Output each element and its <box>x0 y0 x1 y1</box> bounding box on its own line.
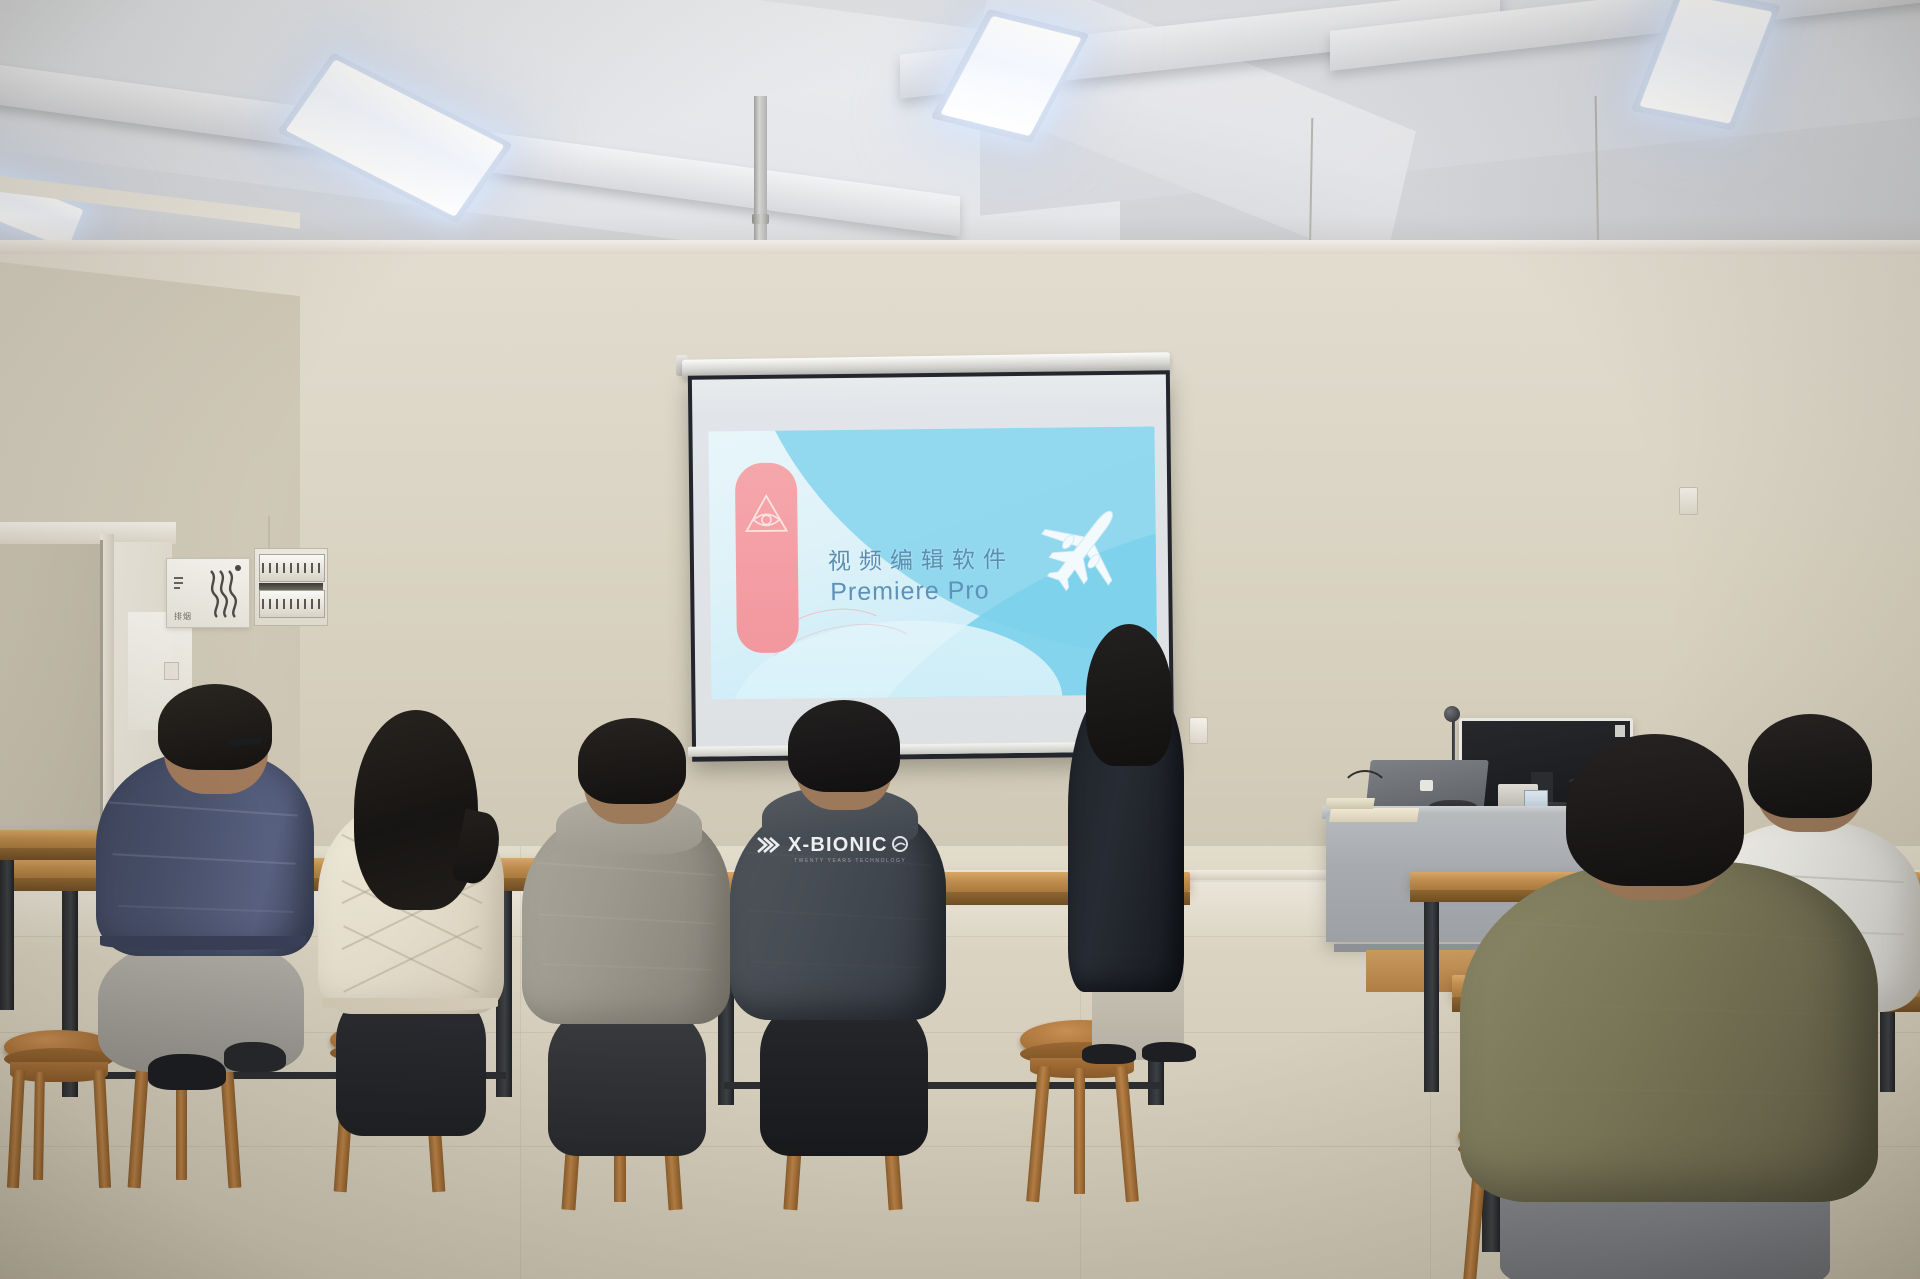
student-4-brand-text: X-BIONIC <box>788 834 888 857</box>
student-4-hair <box>788 700 900 792</box>
student-6-jacket <box>1460 862 1878 1202</box>
student-1-hair <box>158 684 272 770</box>
classroom-photo: 排烟 <box>0 0 1920 1279</box>
wall-socket[interactable] <box>164 662 179 680</box>
student-5-hair <box>1748 714 1872 818</box>
projector-pole-joint <box>752 214 769 224</box>
instructor-hair <box>1086 624 1172 766</box>
wall-top-trim <box>0 240 1920 254</box>
panel-divider <box>259 583 323 590</box>
wall-light-switch[interactable] <box>1189 717 1208 744</box>
slide-title-cn: 视频编辑软件 <box>828 540 1014 576</box>
desk-papers-2 <box>1325 798 1375 809</box>
student-1-shoe-2 <box>224 1042 286 1072</box>
smoke-wave-icon <box>205 567 241 619</box>
student-2-jacket-hem <box>322 998 498 1011</box>
instructor-shoe-right <box>1142 1042 1196 1062</box>
electrical-panel <box>254 548 328 626</box>
panel-breaker-row-2 <box>259 590 325 618</box>
x-bionic-logo-icon <box>756 836 786 854</box>
doorway-header <box>0 522 176 544</box>
student-1-jacket-hem <box>100 936 306 950</box>
bionic-circle-icon <box>892 836 908 852</box>
monitor-badge <box>1615 725 1625 737</box>
sign-label: 排烟 <box>174 611 192 622</box>
student-6-hair <box>1566 734 1744 886</box>
desk-papers <box>1329 808 1419 822</box>
laptop-logo <box>1420 780 1433 791</box>
slide-subtitle-en: Premiere Pro <box>830 576 990 607</box>
student-1-shoe <box>148 1054 226 1090</box>
panel-cord <box>268 516 270 550</box>
student-3-hair <box>578 718 686 804</box>
microphone-icon <box>1444 706 1460 722</box>
student-3-pants <box>548 1004 706 1156</box>
panel-breaker-row-1 <box>259 554 325 582</box>
slide-presentation: 视频编辑软件 Premiere Pro <box>708 426 1157 699</box>
sign-glyph-icon <box>174 575 183 595</box>
student-4-brand-subtext: TWENTY YEARS TECHNOLOGY <box>794 858 906 864</box>
eye-in-triangle-icon <box>743 491 790 538</box>
wall-sign: 排烟 <box>166 558 250 628</box>
student-4-pants <box>760 996 928 1156</box>
instructor-shoe-left <box>1082 1044 1136 1064</box>
wall-sensor-box <box>1679 487 1698 515</box>
